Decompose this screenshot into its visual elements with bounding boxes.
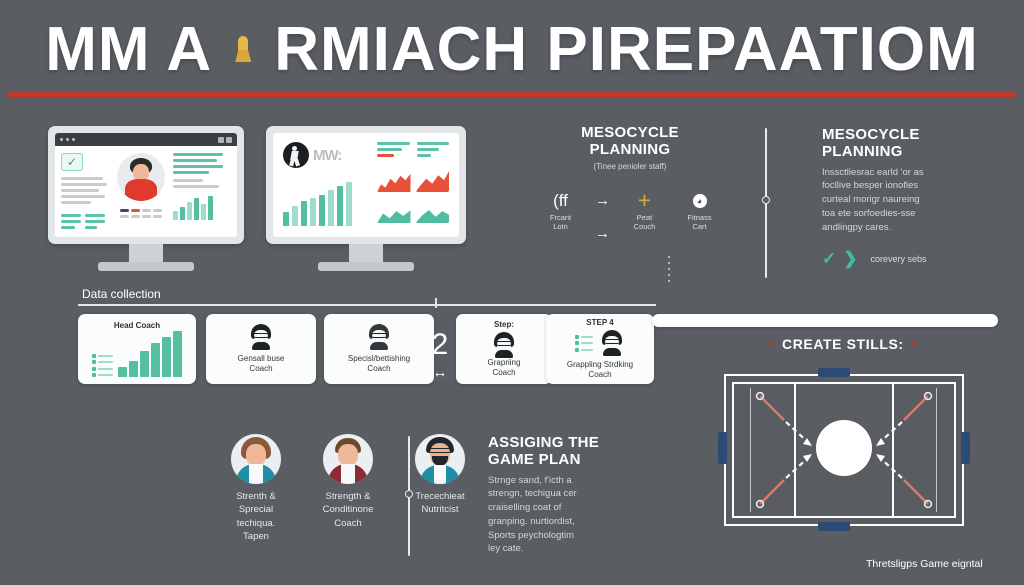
text-line xyxy=(173,159,217,162)
text-line xyxy=(61,189,99,192)
browser-bar xyxy=(55,133,237,146)
browser-dot xyxy=(60,138,63,141)
chevron-right-icon: ❯ xyxy=(843,250,857,267)
checklist-row xyxy=(575,335,594,339)
arrow-right-icon: → xyxy=(595,222,610,242)
plus-cross-icon: + xyxy=(624,189,665,213)
game-plan-heading-line2: GAME PLAN xyxy=(488,451,648,468)
bracket-glyph-icon: (ff xyxy=(540,189,581,213)
step-number: 2 xyxy=(420,330,460,360)
page-title-left: MM A xyxy=(45,14,212,85)
checklist-row xyxy=(575,341,594,345)
header-accent-rule xyxy=(8,92,1016,97)
tag-line xyxy=(85,220,105,223)
stat-line xyxy=(120,209,129,212)
data-collection-label: Data collection xyxy=(82,287,161,301)
mesocycle-heading: MESOCYCLE PLANNING xyxy=(540,124,720,159)
legend-line xyxy=(377,154,394,157)
legend-line xyxy=(377,142,410,145)
monitor-bezel: ✓ xyxy=(48,126,244,244)
card-chart-area xyxy=(92,333,183,377)
tag-line xyxy=(85,226,97,229)
checklist-row xyxy=(92,373,114,377)
area-chart-row-red xyxy=(377,166,449,192)
body-line: Inssctliesrac earld 'or as xyxy=(822,166,998,180)
profile-dashboard-monitor[interactable]: ✓ xyxy=(48,126,244,271)
bar xyxy=(194,198,199,220)
body-line: granping. nurtiordist, xyxy=(488,515,648,529)
clock-circle-icon: ◕ xyxy=(679,189,720,213)
checklist-row xyxy=(92,367,114,371)
avatar xyxy=(117,153,165,201)
body-line: andlingpy cares. xyxy=(822,221,998,235)
arrow-left-right-icon: ↔ xyxy=(420,364,460,381)
text-line xyxy=(173,179,203,182)
tag-line xyxy=(61,220,81,223)
browser-control-icon xyxy=(226,137,232,143)
bar-chart-icon xyxy=(118,333,182,377)
mesocycle-heading-2-line1: MESOCYCLE xyxy=(822,126,998,143)
bar-chart-icon xyxy=(173,194,227,220)
bar-chart-icon xyxy=(283,182,367,226)
connector-dot xyxy=(668,268,670,270)
text-line xyxy=(173,165,223,168)
bar xyxy=(337,186,343,226)
analytics-left-column: MW: xyxy=(283,142,367,228)
analytics-dashboard-monitor[interactable]: MW: xyxy=(266,126,466,271)
tag-line xyxy=(61,226,75,229)
mesocycle-item-label: Peat Couch xyxy=(624,213,665,233)
mesocycle-footer-label: corevery sebs xyxy=(871,254,927,264)
brand-logo-text: MW: xyxy=(313,147,341,164)
head-coach-card[interactable]: Head Coach xyxy=(78,314,196,384)
bar xyxy=(162,337,171,377)
female-avatar-icon xyxy=(231,434,281,484)
text-line xyxy=(61,177,103,180)
mesocycle-item-front-coach[interactable]: (ff Frcant Lotn xyxy=(540,189,581,233)
checklist-icon xyxy=(575,335,594,352)
bar xyxy=(328,190,334,226)
header: MM A RMIACH PIREPAATIOM xyxy=(0,0,1024,100)
bar xyxy=(301,201,307,226)
tactical-field-diagram[interactable] xyxy=(724,374,964,526)
bar xyxy=(151,343,160,377)
mesocycle-item-row: (ff Frcant Lotn → → + Peat Couch ◕ xyxy=(540,189,720,242)
legend-line xyxy=(417,142,450,145)
monitor-foot xyxy=(318,262,414,271)
game-plan-block: ASSIGING THE GAME PLAN Strnge sand, f'ic… xyxy=(488,434,648,556)
profile-stat-row xyxy=(120,209,162,221)
head-portrait-icon xyxy=(599,330,625,356)
step-indicator: 2 ↔ xyxy=(420,330,460,381)
body-line: focllive besper ionofles xyxy=(822,179,998,193)
mesocycle-subtitle: (Tinee penioler staff) xyxy=(540,162,720,171)
bar xyxy=(208,196,213,220)
bar xyxy=(292,206,298,226)
head-portrait-icon xyxy=(491,332,517,354)
card-label: Specisl/bettishing Coach xyxy=(348,354,410,374)
text-line xyxy=(173,171,209,174)
monitor-screen: ✓ xyxy=(55,133,237,237)
bar xyxy=(201,204,206,220)
connector-dot xyxy=(668,256,670,258)
card-title: Step: xyxy=(494,320,514,329)
nutritionist-person[interactable]: Trecechieat Nutritcist xyxy=(380,434,500,517)
text-line xyxy=(61,183,107,186)
card-label: Grappling Strdking Coach xyxy=(567,360,633,380)
text-line xyxy=(61,201,91,204)
head-portrait-icon xyxy=(366,324,392,350)
monitor-foot xyxy=(98,262,194,271)
mesocycle-footer-row[interactable]: ✓ ❯ corevery sebs xyxy=(822,250,998,267)
infographic-page: MM A RMIACH PIREPAATIOM xyxy=(0,0,1024,585)
stat-line xyxy=(153,215,162,218)
movement-arrows xyxy=(724,374,964,526)
legend-line xyxy=(417,154,432,157)
profile-tag-group xyxy=(61,214,109,232)
mesocycle-heading-2-line2: PLANNING xyxy=(822,143,998,160)
bar xyxy=(187,202,192,220)
area-chart-icon xyxy=(377,166,411,192)
analytics-right-column xyxy=(377,142,449,228)
bar xyxy=(173,211,178,220)
browser-dot xyxy=(72,138,75,141)
profile-right-column xyxy=(173,153,227,232)
mesocycle-planning-column-left: MESOCYCLE PLANNING (Tinee penioler staff… xyxy=(540,124,720,282)
stat-line xyxy=(131,215,140,218)
stat-line xyxy=(153,209,162,212)
area-chart-icon xyxy=(416,199,450,223)
connector-dot xyxy=(668,274,670,276)
game-plan-heading-line1: ASSIGING THE xyxy=(488,434,648,451)
bar xyxy=(129,361,138,377)
text-line xyxy=(61,195,105,198)
game-plan-heading: ASSIGING THE GAME PLAN xyxy=(488,434,648,469)
card-label: Gensall buse Coach xyxy=(238,354,285,374)
legend-line xyxy=(377,148,402,151)
bearded-male-avatar-icon xyxy=(415,434,465,484)
data-collection-tick xyxy=(435,298,437,308)
browser-control-icon xyxy=(218,137,224,143)
mesocycle-heading-2: MESOCYCLE PLANNING xyxy=(822,126,998,161)
browser-dot xyxy=(66,138,69,141)
page-title-right: RMIACH PIREPAATIOM xyxy=(274,14,979,85)
tag-line xyxy=(61,214,81,217)
bar xyxy=(118,367,127,377)
body-line: ley cate. xyxy=(488,542,648,556)
check-person-icon: ✓ xyxy=(822,250,836,267)
card-title: Head Coach xyxy=(114,321,160,330)
body-line: curteal morigr naureing xyxy=(822,193,998,207)
create-stills-heading: CREATE STILLS: xyxy=(770,336,916,352)
connector-dot xyxy=(668,280,670,282)
tag-line xyxy=(85,214,105,217)
torch-emblem-icon xyxy=(232,34,254,64)
avatar-body xyxy=(125,179,157,201)
bar xyxy=(173,331,182,377)
bullet-dot-icon xyxy=(770,342,774,346)
arrow-right-icon: → xyxy=(595,189,610,209)
mesocycle-body-text: Inssctliesrac earld 'or as focllive besp… xyxy=(822,166,998,235)
body-line: strengn, techigua cer xyxy=(488,487,648,501)
bullet-dot-icon xyxy=(912,342,916,346)
area-chart-icon xyxy=(416,166,450,192)
field-caption: Thretsligps Game eigntal xyxy=(866,558,983,570)
body-line: craiselling coat of xyxy=(488,501,648,515)
profile-left-column: ✓ xyxy=(61,153,109,232)
browser-controls xyxy=(218,137,232,143)
create-stills-label: CREATE STILLS: xyxy=(782,336,904,352)
checklist-row xyxy=(575,348,594,352)
bar xyxy=(283,212,289,226)
checkbox-icon: ✓ xyxy=(61,153,83,171)
mesocycle-item-label: Fitnass Cart xyxy=(679,213,720,233)
male-avatar-icon xyxy=(323,434,373,484)
legend-line xyxy=(417,148,440,151)
person-label: Trecechieat Nutritcist xyxy=(380,490,500,517)
checklist-row xyxy=(92,360,114,364)
monitor-neck xyxy=(129,244,163,262)
profile-page-body: ✓ xyxy=(55,146,237,232)
general-base-coach-card[interactable]: Gensall buse Coach xyxy=(206,314,316,384)
body-line: Sports peychologtim xyxy=(488,529,648,543)
mesocycle-item-label: Frcant Lotn xyxy=(540,213,581,233)
bar xyxy=(140,351,149,377)
area-chart-row-teal xyxy=(377,199,449,223)
mesocycle-planning-column-right: MESOCYCLE PLANNING Inssctliesrac earld '… xyxy=(822,126,998,267)
game-plan-body: Strnge sand, f'icth a strengn, techigua … xyxy=(488,474,648,557)
area-chart-icon xyxy=(377,199,411,223)
bar xyxy=(346,182,352,226)
monitor-bezel: MW: xyxy=(266,126,466,244)
stat-line xyxy=(131,209,140,212)
bar xyxy=(180,207,185,220)
bar xyxy=(310,198,316,226)
analytics-page-body: MW: xyxy=(283,142,449,228)
mesocycle-item-peat-coach[interactable]: + Peat Couch xyxy=(624,189,665,233)
text-line xyxy=(173,153,223,156)
walking-figure-circle-icon xyxy=(283,142,309,168)
mesocycle-heading-line1: MESOCYCLE xyxy=(540,124,720,141)
mesocycle-item-fitness-cart[interactable]: ◕ Fitnass Cart xyxy=(679,189,720,233)
connector-dot xyxy=(668,262,670,264)
body-line: Strnge sand, f'icth a xyxy=(488,474,648,488)
stat-line xyxy=(142,209,151,212)
specialist-coach-card[interactable]: Specisl/bettishing Coach xyxy=(324,314,434,384)
body-line: toa ete sorfoedies-sse xyxy=(822,207,998,221)
mesocycle-arrow-group: → → xyxy=(595,189,610,242)
grappling-coach-card[interactable]: Step: Grapriing Coach xyxy=(456,314,552,384)
legend-row xyxy=(377,142,449,160)
create-stills-pill xyxy=(652,314,998,327)
monitor-neck xyxy=(349,244,383,262)
grappling-striking-coach-card[interactable]: STEP 4 Grappling Strdking Coach xyxy=(546,314,654,384)
data-collection-divider xyxy=(78,304,656,306)
mesocycle-heading-line2: PLANNING xyxy=(540,141,720,158)
checklist-icon xyxy=(92,354,114,378)
monitor-screen: MW: xyxy=(273,133,459,237)
brand-lockup: MW: xyxy=(283,142,367,168)
head-portrait-icon xyxy=(248,324,274,350)
profile-center-column xyxy=(115,153,167,232)
checklist-row xyxy=(92,354,114,358)
dotted-connector xyxy=(618,256,720,282)
stat-line xyxy=(120,215,129,218)
card-title: STEP 4 xyxy=(586,318,613,327)
text-line xyxy=(173,185,219,188)
card-icon-row xyxy=(575,330,626,356)
page-title: MM A RMIACH PIREPAATIOM xyxy=(0,10,1024,88)
bar xyxy=(319,195,325,226)
card-label: Grapriing Coach xyxy=(488,358,521,378)
stat-line xyxy=(142,215,151,218)
column-divider-node xyxy=(762,196,770,204)
